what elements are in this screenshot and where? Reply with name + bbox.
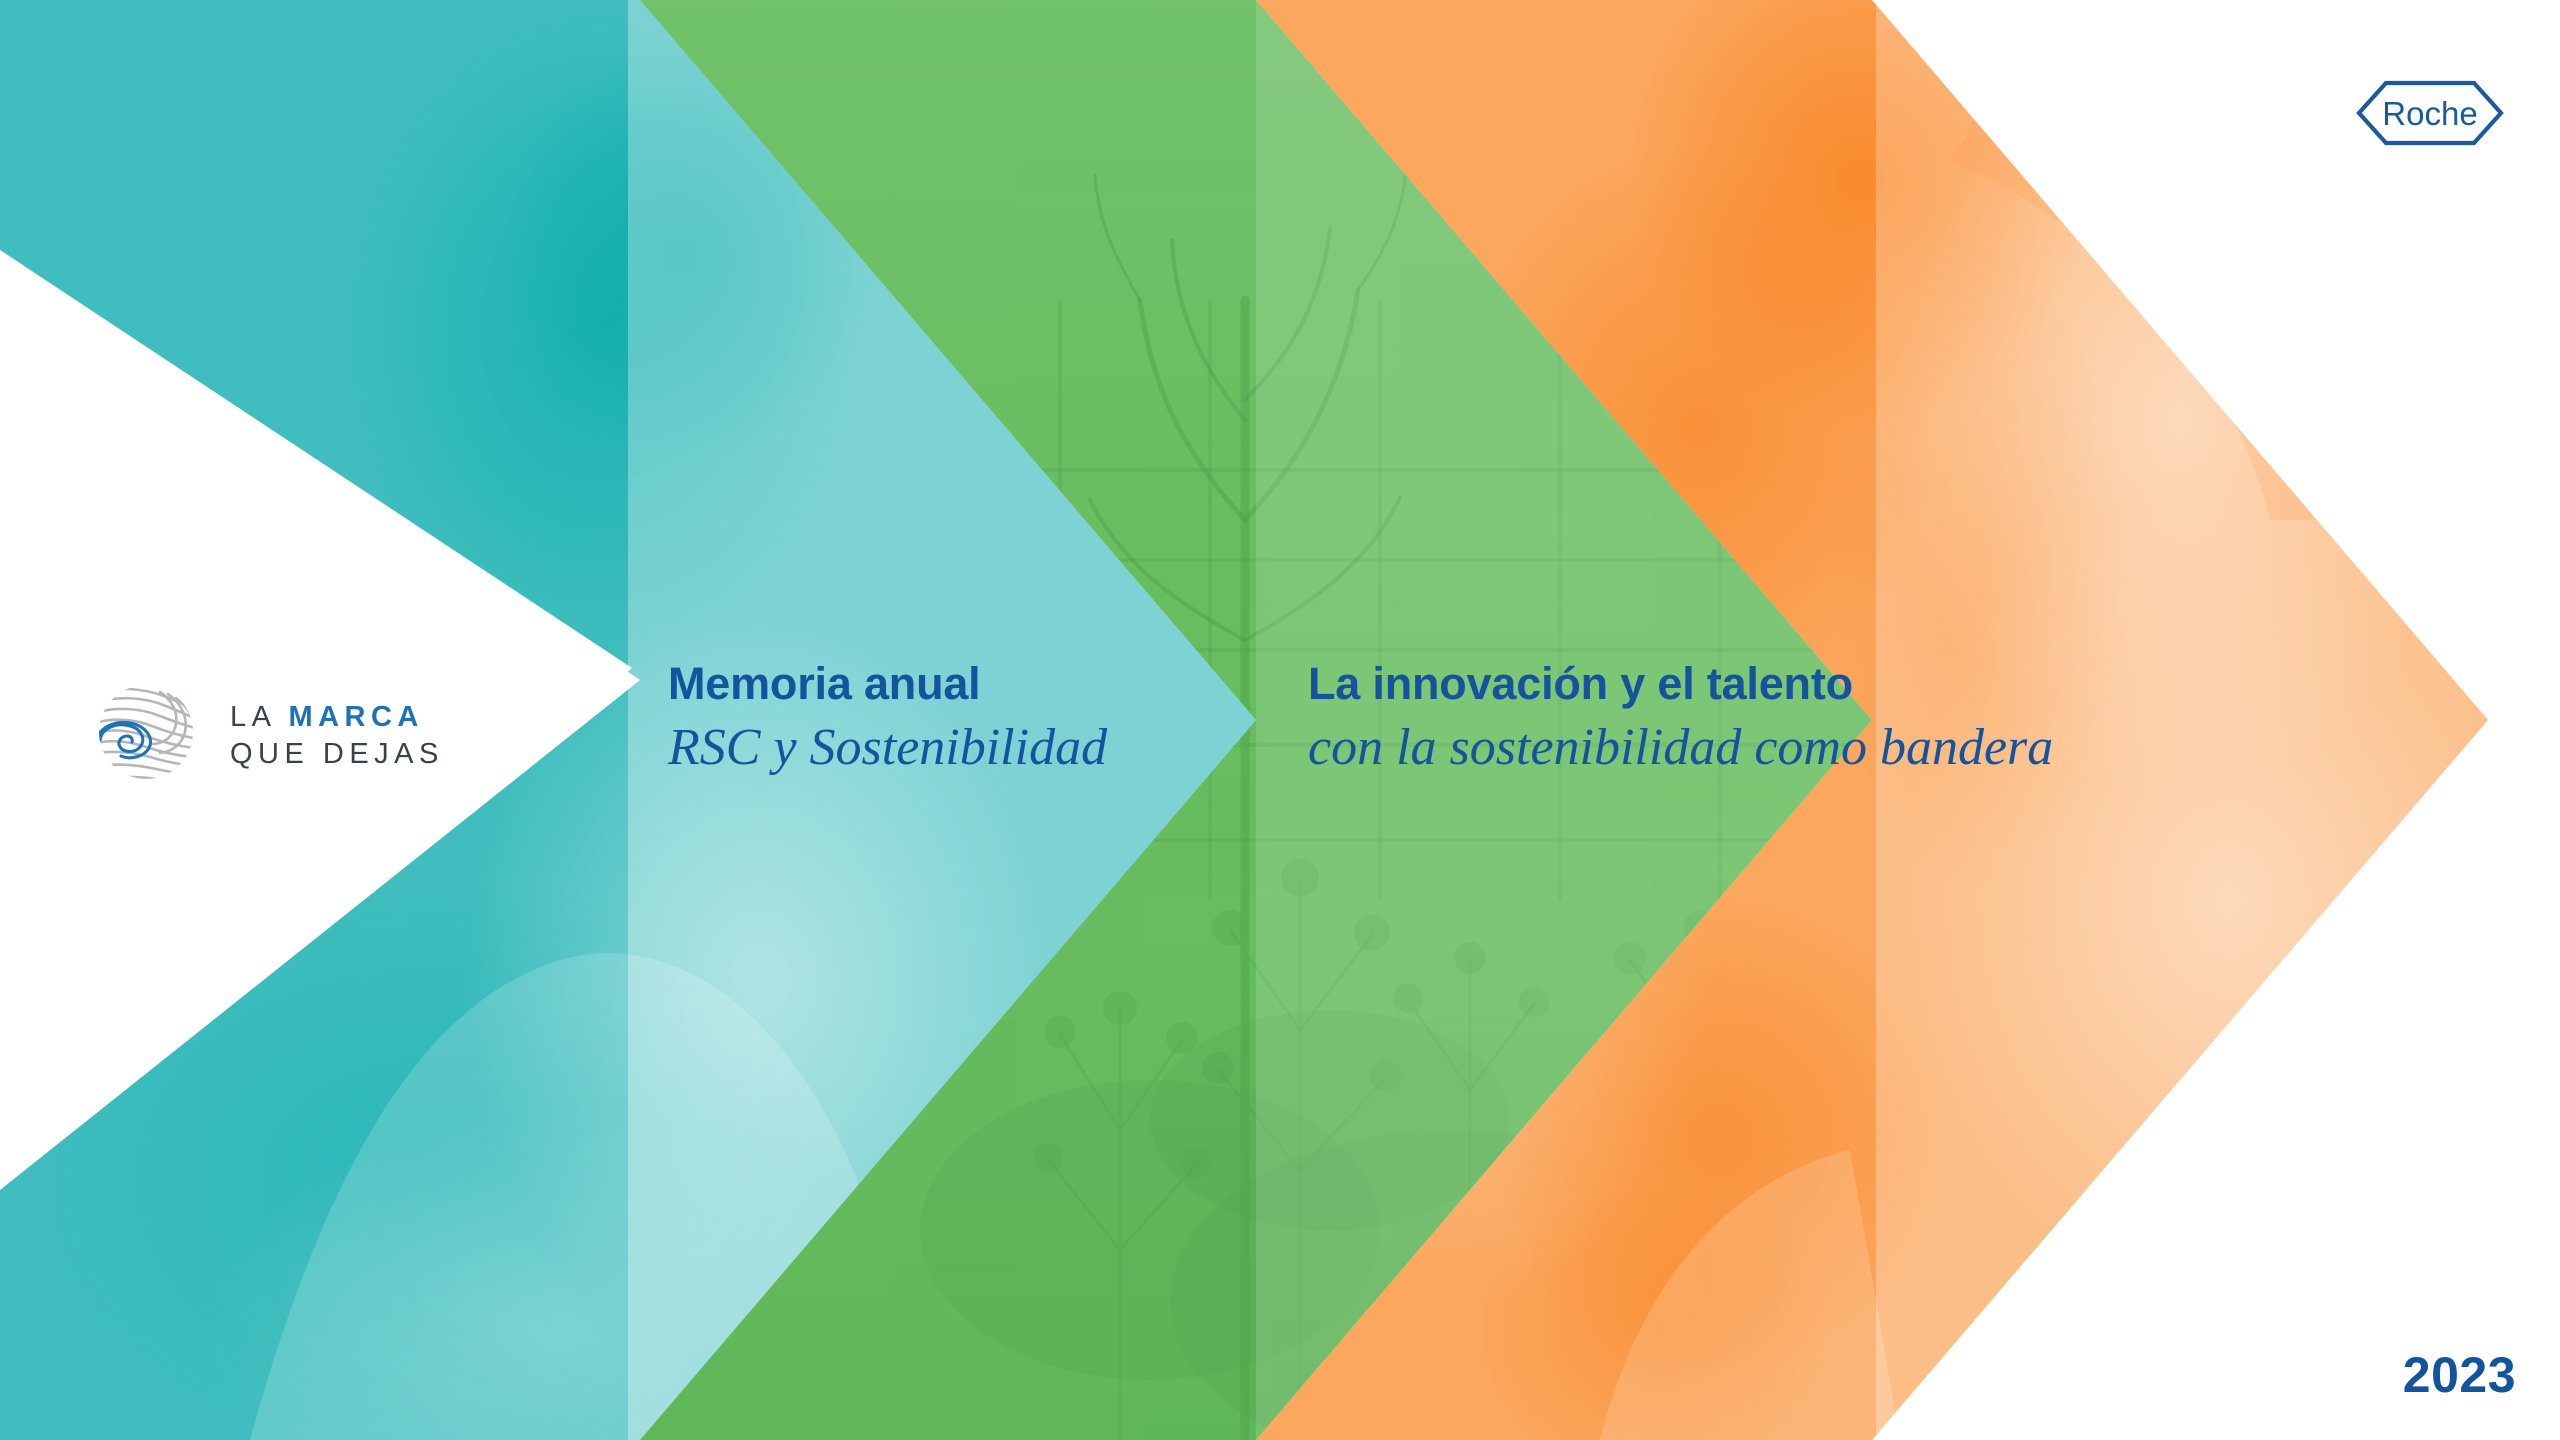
marca-wordmark: LA MARCA QUE DEJAS: [230, 698, 444, 771]
cover-page: Roche: [0, 0, 2560, 1440]
year-label: 2023: [2403, 1346, 2516, 1404]
roche-wordmark: Roche: [2382, 95, 2477, 132]
headline-memoria-anual: Memoria anual RSC y Sostenibilidad: [668, 657, 1107, 780]
headline-innovacion-talento: La innovación y el talento con la sosten…: [1308, 657, 2053, 780]
roche-logo: Roche: [2356, 80, 2504, 146]
headline-right-italic: con la sostenibilidad como bandera: [1308, 716, 2053, 779]
la-marca-que-dejas-logo: LA MARCA QUE DEJAS: [90, 678, 444, 790]
headline-left-bold: Memoria anual: [668, 657, 1107, 710]
marca-marca: MARCA: [288, 701, 423, 733]
fingerprint-tree-rings-icon: [90, 678, 202, 790]
headline-right-bold: La innovación y el talento: [1308, 657, 2053, 710]
marca-la: LA: [230, 701, 288, 733]
marca-line-1: LA MARCA: [230, 702, 444, 733]
headline-left-italic: RSC y Sostenibilidad: [668, 716, 1107, 779]
marca-line-2: QUE DEJAS: [230, 739, 444, 770]
